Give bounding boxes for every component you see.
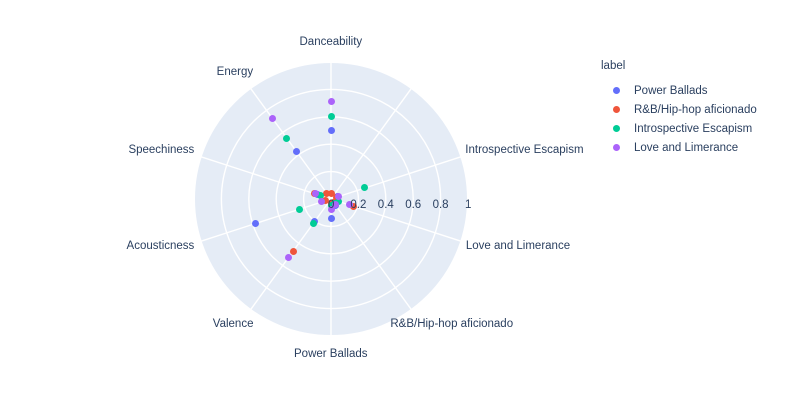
legend-item-introspective-escapism[interactable]: Introspective Escapism xyxy=(601,119,796,138)
angular-axis-label-valence: Valence xyxy=(213,319,254,331)
legend-marker-icon xyxy=(613,87,620,94)
data-point[interactable] xyxy=(285,254,292,261)
legend-title: label xyxy=(601,60,796,72)
legend-marker-icon xyxy=(613,125,620,132)
legend-marker-icon xyxy=(613,144,620,151)
angular-axis-label-introspective-escapism: Introspective Escapism xyxy=(465,145,583,157)
legend-entries: Power BalladsR&B/Hip-hop aficionadoIntro… xyxy=(601,81,796,157)
data-point[interactable] xyxy=(328,215,335,222)
data-point[interactable] xyxy=(328,127,335,134)
legend-item-label: Love and Limerance xyxy=(634,142,738,154)
data-point[interactable] xyxy=(328,98,335,105)
legend-marker-icon xyxy=(613,106,620,113)
angular-axis-label-speechiness: Speechiness xyxy=(128,145,194,157)
legend-item-power-ballads[interactable]: Power Ballads xyxy=(601,81,796,100)
radial-tick-0-4: 0.4 xyxy=(378,200,394,212)
angular-axis-label-energy: Energy xyxy=(217,67,253,79)
legend-item-love-and-limerance[interactable]: Love and Limerance xyxy=(601,138,796,157)
angular-axis-label-power-ballads: Power Ballads xyxy=(294,349,368,361)
data-point[interactable] xyxy=(290,248,297,255)
angular-axis-label-love-and-limerance: Love and Limerance xyxy=(466,241,570,253)
polar-chart-figure: DanceabilityEnergySpeechinessAcousticnes… xyxy=(0,0,800,400)
data-point[interactable] xyxy=(296,206,303,213)
chart-legend: label Power BalladsR&B/Hip-hop aficionad… xyxy=(601,60,796,157)
legend-item-label: Power Ballads xyxy=(634,85,708,97)
radial-tick-1: 1 xyxy=(465,200,471,212)
angular-axis-label-acousticness: Acousticness xyxy=(127,241,195,253)
radial-tick-0-6: 0.6 xyxy=(405,200,421,212)
data-point[interactable] xyxy=(252,220,259,227)
data-point[interactable] xyxy=(269,115,276,122)
angular-axis-label-r-b-hip-hop-aficionado: R&B/Hip-hop aficionado xyxy=(390,319,513,331)
radial-tick-0-2: 0.2 xyxy=(350,200,366,212)
radial-tick-0: 0 xyxy=(328,200,334,212)
radial-tick-0-8: 0.8 xyxy=(433,200,449,212)
legend-item-r-b-hip-hop-aficionado[interactable]: R&B/Hip-hop aficionado xyxy=(601,100,796,119)
data-point[interactable] xyxy=(293,148,300,155)
data-point[interactable] xyxy=(283,135,290,142)
legend-item-label: Introspective Escapism xyxy=(634,123,752,135)
data-point[interactable] xyxy=(310,220,317,227)
data-point[interactable] xyxy=(328,113,335,120)
angular-axis-label-danceability: Danceability xyxy=(300,37,363,49)
legend-item-label: R&B/Hip-hop aficionado xyxy=(634,104,757,116)
